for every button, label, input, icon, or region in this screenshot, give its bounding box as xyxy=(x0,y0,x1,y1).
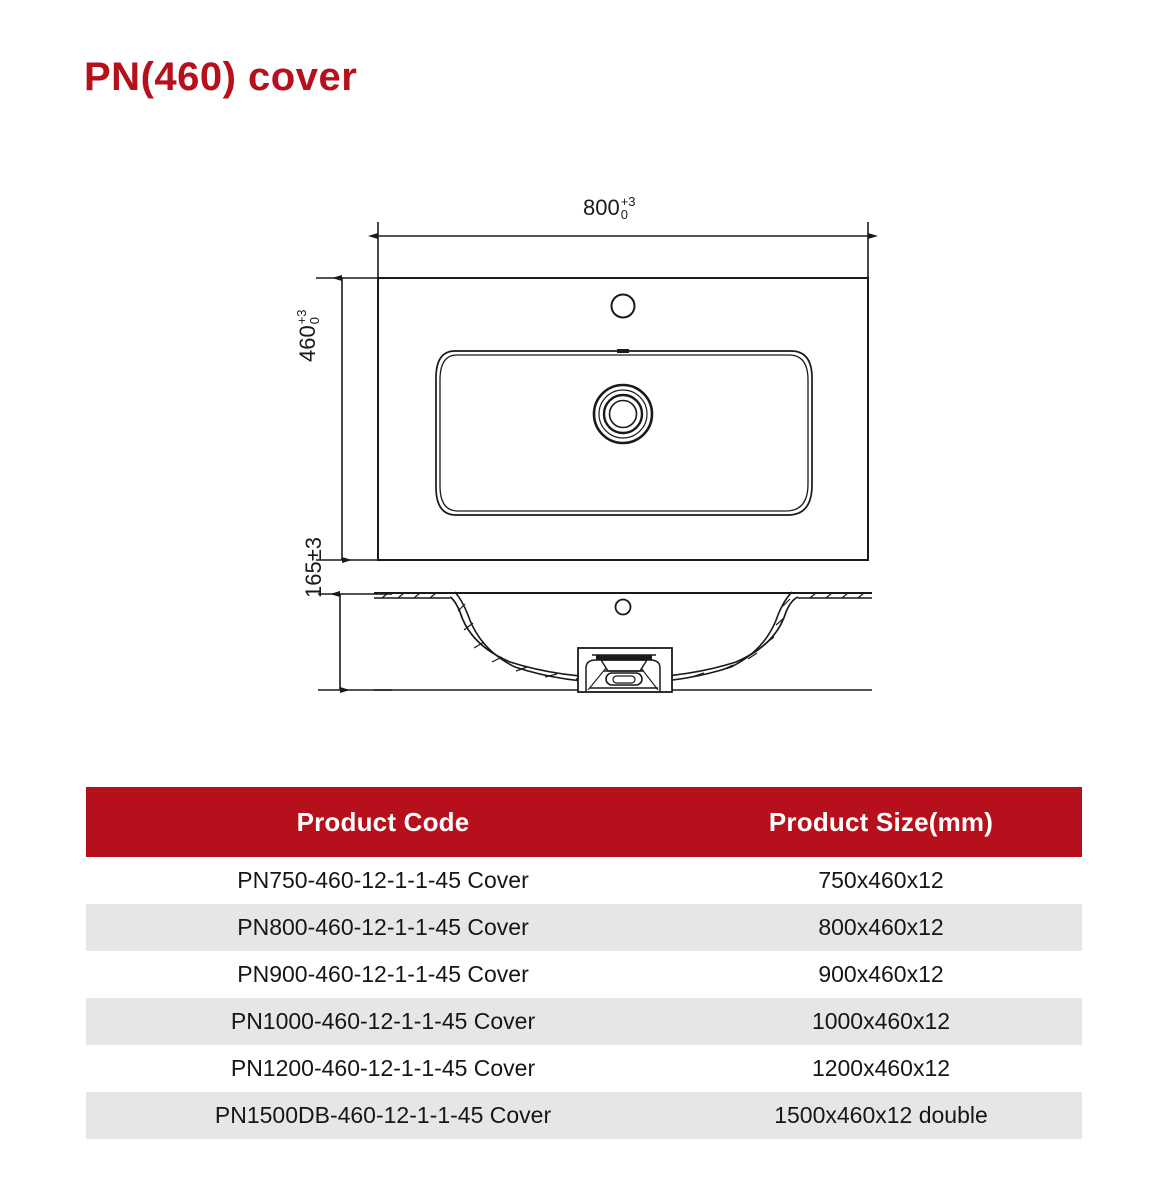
table-row: PN800-460-12-1-1-45 Cover 800x460x12 xyxy=(86,904,1082,951)
tol-upper: +3 xyxy=(621,195,636,208)
plan-outline xyxy=(378,278,868,560)
dimension-height xyxy=(318,594,392,690)
table-row: PN1500DB-460-12-1-1-45 Cover 1500x460x12… xyxy=(86,1092,1082,1139)
cell-product-code: PN1000-460-12-1-1-45 Cover xyxy=(86,998,680,1045)
tol-lower: 0 xyxy=(308,309,321,324)
cell-product-size: 900x460x12 xyxy=(680,951,1082,998)
cell-product-size: 1200x460x12 xyxy=(680,1045,1082,1092)
cell-product-size: 750x460x12 xyxy=(680,857,1082,904)
cell-product-code: PN900-460-12-1-1-45 Cover xyxy=(86,951,680,998)
hatch-bowl-right xyxy=(660,599,790,679)
cell-product-size: 1500x460x12 double xyxy=(680,1092,1082,1139)
cell-product-size: 800x460x12 xyxy=(680,904,1082,951)
dimension-width-value: 800 xyxy=(583,195,620,220)
column-header-product-size: Product Size(mm) xyxy=(680,787,1082,857)
section-view xyxy=(374,592,872,692)
waste-assembly-detail xyxy=(578,648,672,692)
dimension-height-label: 165±3 xyxy=(303,537,325,598)
dimension-width-label: 800+30 xyxy=(583,196,636,223)
table-row: PN1000-460-12-1-1-45 Cover 1000x460x12 xyxy=(86,998,1082,1045)
drain-outlet xyxy=(594,385,652,443)
dimension-width xyxy=(378,222,868,281)
cell-product-code: PN750-460-12-1-1-45 Cover xyxy=(86,857,680,904)
cell-product-size: 1000x460x12 xyxy=(680,998,1082,1045)
overflow-notch xyxy=(617,349,629,353)
cell-product-code: PN1500DB-460-12-1-1-45 Cover xyxy=(86,1092,680,1139)
cell-product-code: PN800-460-12-1-1-45 Cover xyxy=(86,904,680,951)
table-header-row: Product Code Product Size(mm) xyxy=(86,787,1082,857)
table-row: PN750-460-12-1-1-45 Cover 750x460x12 xyxy=(86,857,1082,904)
product-spec-table: Product Code Product Size(mm) PN750-460-… xyxy=(86,787,1082,1139)
tol-lower: 0 xyxy=(621,208,636,221)
dimension-depth-value: 460 xyxy=(295,325,320,362)
basin-technical-drawing: 800+30 460+30 165±3 xyxy=(0,0,1168,760)
overflow-hole xyxy=(616,600,631,615)
cell-product-code: PN1200-460-12-1-1-45 Cover xyxy=(86,1045,680,1092)
dimension-width-tolerance: +30 xyxy=(621,195,636,222)
table-row: PN1200-460-12-1-1-45 Cover 1200x460x12 xyxy=(86,1045,1082,1092)
dimension-depth xyxy=(316,278,382,560)
tap-hole xyxy=(612,295,635,318)
dimension-depth-tolerance: +30 xyxy=(295,309,322,324)
plan-view xyxy=(378,278,868,560)
table-row: PN900-460-12-1-1-45 Cover 900x460x12 xyxy=(86,951,1082,998)
drawing-svg xyxy=(0,0,1168,760)
dimension-depth-label: 460+30 xyxy=(296,309,323,362)
tol-upper: +3 xyxy=(295,309,308,324)
column-header-product-code: Product Code xyxy=(86,787,680,857)
